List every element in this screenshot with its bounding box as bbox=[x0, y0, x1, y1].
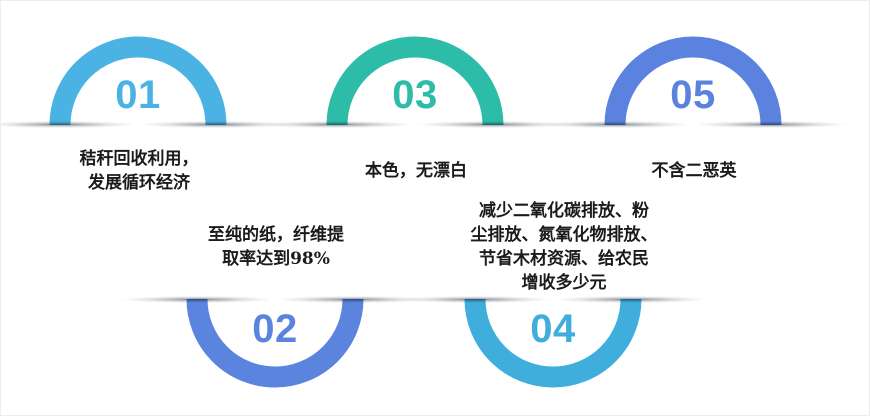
caption-01: 秸秆回收利用， 发展循环经济 bbox=[39, 147, 239, 195]
caption-03: 本色，无漂白 bbox=[316, 159, 516, 183]
arc-number-01: 01 bbox=[49, 75, 227, 115]
arc-number-02: 02 bbox=[186, 309, 364, 349]
arc-number-04: 04 bbox=[464, 309, 642, 349]
arc-number-05: 05 bbox=[604, 75, 782, 115]
caption-02: 至纯的纸，纤维提 取率达到98% bbox=[176, 223, 376, 271]
arc-number-03: 03 bbox=[326, 75, 504, 115]
caption-05: 不含二恶英 bbox=[594, 159, 794, 183]
infographic-canvas: 01 秸秆回收利用， 发展循环经济 03 本色，无漂白 05 不含二恶英 bbox=[0, 0, 870, 416]
caption-04: 减少二氧化碳排放、粉 尘排放、氮氧化物排放、 节省木材资源、给农民 增收多少元 bbox=[453, 199, 675, 296]
